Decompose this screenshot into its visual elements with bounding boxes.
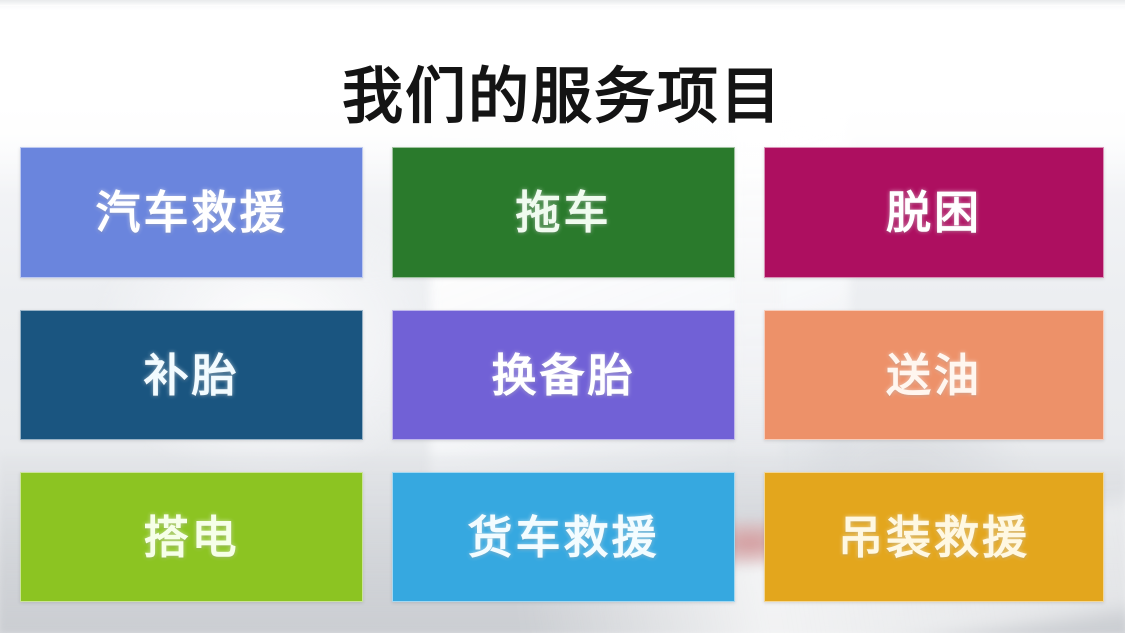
service-tile-label: 送油 [886,353,982,398]
service-tile-label: 换备胎 [491,353,635,398]
service-poster: 我们的服务项目 汽车救援拖车脱困补胎换备胎送油搭电货车救援吊装救援 [0,0,1125,633]
service-tile-towing[interactable]: 拖车 [392,147,735,278]
service-tile-fuel-delivery[interactable]: 送油 [764,310,1104,440]
service-tile-label: 脱困 [886,190,982,235]
service-tile-label: 吊装救援 [838,515,1030,560]
service-tile-tire-repair[interactable]: 补胎 [20,310,363,440]
service-tile-extrication[interactable]: 脱困 [764,147,1104,278]
page-title: 我们的服务项目 [0,63,1125,130]
service-tile-spare-tire-change[interactable]: 换备胎 [392,310,735,440]
service-tile-label: 搭电 [143,515,239,560]
service-tile-label: 补胎 [143,353,239,398]
background-top-strip [0,0,1125,6]
service-tile-grid: 汽车救援拖车脱困补胎换备胎送油搭电货车救援吊装救援 [20,147,1105,602]
service-tile-label: 拖车 [515,190,611,235]
service-tile-lifting-rescue[interactable]: 吊装救援 [764,472,1104,602]
service-tile-car-rescue[interactable]: 汽车救援 [20,147,363,278]
service-tile-label: 货车救援 [467,515,659,560]
service-tile-jump-start[interactable]: 搭电 [20,472,363,602]
service-tile-label: 汽车救援 [95,190,287,235]
service-tile-truck-rescue[interactable]: 货车救援 [392,472,735,602]
